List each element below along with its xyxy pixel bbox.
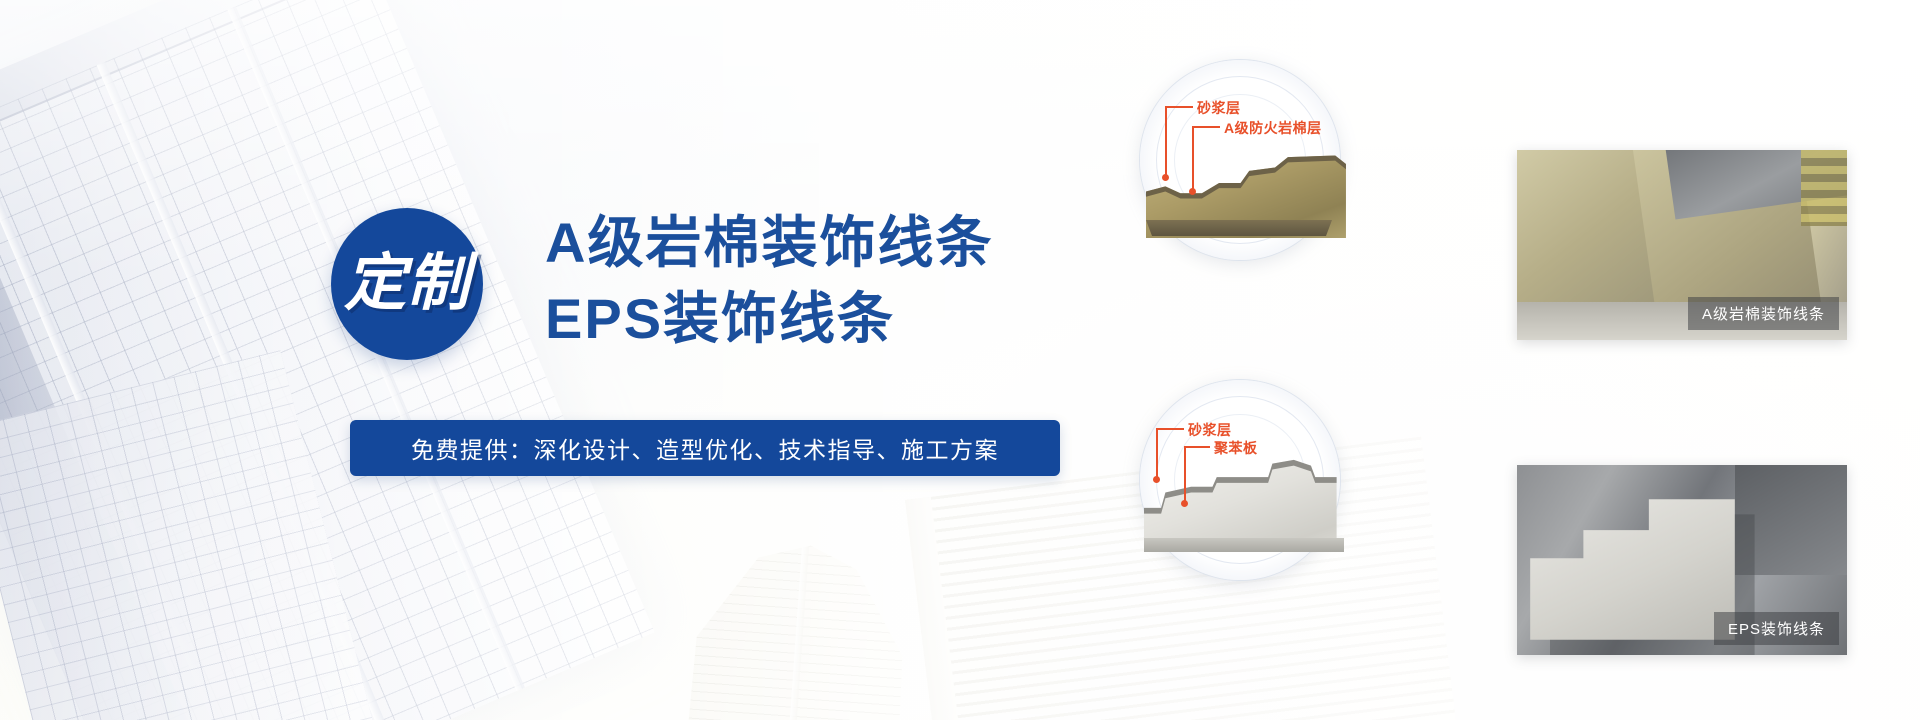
product-panel-rockwool: A级岩棉装饰线条 砂浆层 A级防火岩棉层 — [1140, 30, 1900, 350]
rockwool-edge-strip — [1801, 150, 1847, 226]
leader-line-icon-rockwool-2 — [1140, 60, 1340, 260]
headline-line-2: EPS装饰线条 — [545, 286, 1105, 352]
product-caption-rockwool: A级岩棉装饰线条 — [1688, 297, 1839, 330]
custom-badge: 定制 — [331, 208, 483, 360]
leader-stem — [1184, 446, 1210, 448]
services-ribbon: 免费提供：深化设计、造型优化、技术指导、施工方案 — [350, 420, 1060, 476]
leader-stem — [1192, 126, 1220, 128]
headline-line-1: A级岩棉装饰线条 — [545, 210, 1105, 276]
product-photo-eps: EPS装饰线条 — [1517, 465, 1847, 655]
product-panel-eps: EPS装饰线条 砂浆层 聚苯板 — [1140, 370, 1900, 690]
eps-profile — [1530, 499, 1735, 640]
copy-block: 定制 A级岩棉装饰线条 EPS装饰线条 免费提供：深化设计、造型优化、技术指导、… — [0, 0, 1100, 720]
page-title: A级岩棉装饰线条 EPS装饰线条 — [545, 210, 1105, 352]
circle-cutaway-icon-rockwool: 砂浆层 A级防火岩棉层 — [1140, 60, 1340, 260]
leader-stem — [1192, 126, 1194, 192]
leader-dot — [1181, 500, 1188, 507]
promo-banner: 定制 A级岩棉装饰线条 EPS装饰线条 免费提供：深化设计、造型优化、技术指导、… — [0, 0, 1920, 720]
product-caption-eps: EPS装饰线条 — [1714, 612, 1839, 645]
leader-stem — [1184, 446, 1186, 504]
custom-badge-label: 定制 — [344, 253, 470, 315]
circle-cutaway-icon-eps: 砂浆层 聚苯板 — [1140, 380, 1340, 580]
leader-dot — [1189, 188, 1196, 195]
product-photo-rockwool: A级岩棉装饰线条 — [1517, 150, 1847, 340]
leader-line-icon-eps-2 — [1140, 380, 1340, 580]
callout-label-eps-core: 聚苯板 — [1214, 438, 1258, 458]
callout-label-rockwool-core: A级防火岩棉层 — [1224, 118, 1322, 138]
services-ribbon-label: 免费提供：深化设计、造型优化、技术指导、施工方案 — [411, 431, 999, 465]
